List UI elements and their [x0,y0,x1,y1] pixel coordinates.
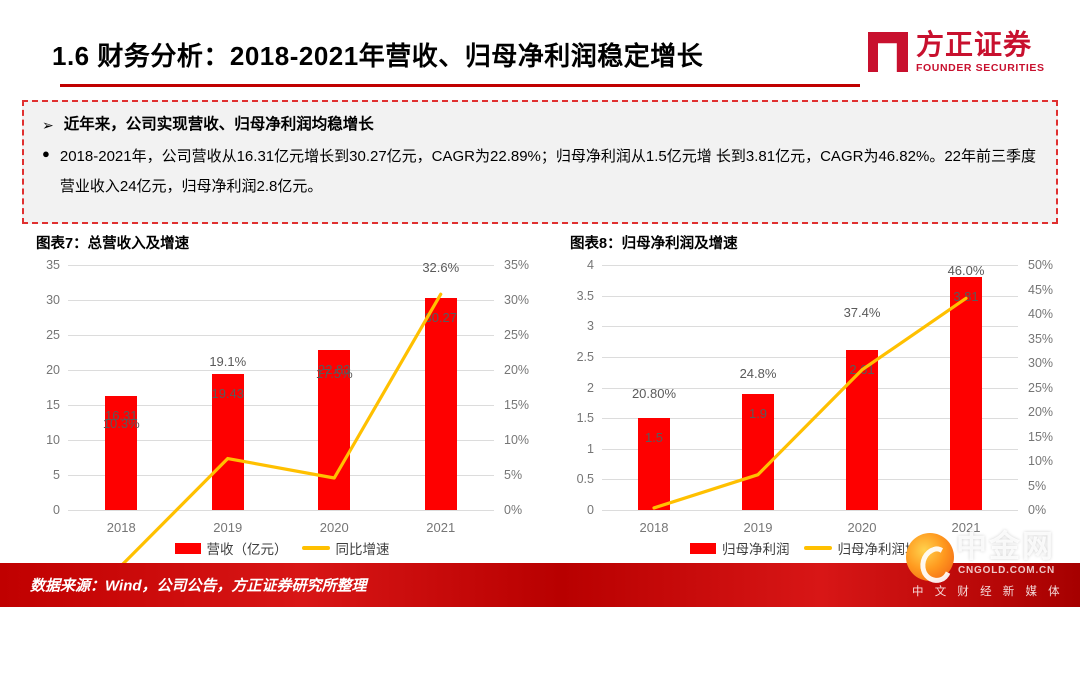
callout-heading-text: 近年来，公司实现营收、归母净利润均稳增长 [64,114,374,136]
y-axis-tick-label: 3 [587,319,594,333]
legend-line-swatch-icon [804,546,832,550]
line-point-label: 32.6% [422,260,459,275]
line-point-label: 24.8% [740,366,777,381]
y-axis-tick-label: 1.5 [577,411,594,425]
callout-body-row: ● 2018-2021年，公司营收从16.31亿元增长到30.27亿元，CAGR… [42,142,1038,202]
plot-area: 00.511.522.533.540%5%10%15%20%25%30%35%4… [602,265,1018,510]
plot-area: 051015202530350%5%10%15%20%25%30%35%16.3… [68,265,494,510]
secondary-y-axis-tick-label: 10% [1028,454,1053,468]
legend-label: 归母净利润增速 [838,538,933,558]
y-axis-tick-label: 15 [46,398,60,412]
y-axis-tick-label: 25 [46,328,60,342]
line-point-label: 17.5% [316,366,353,381]
callout-heading-row: ➢ 近年来，公司实现营收、归母净利润均稳增长 [42,114,1038,136]
legend-item[interactable]: 营收（亿元） [175,538,288,558]
secondary-y-axis-tick-label: 40% [1028,307,1053,321]
secondary-y-axis-tick-label: 5% [1028,479,1046,493]
chart-panel-net-profit: 图表8：归母净利润及增速 00.511.522.533.540%5%10%15%… [556,232,1066,562]
founder-logo-mark-icon [868,32,908,72]
legend-item[interactable]: 归母净利润 [690,538,790,558]
legend-line-swatch-icon [302,546,330,550]
secondary-y-axis-tick-label: 25% [1028,381,1053,395]
callout-body-text: 2018-2021年，公司营收从16.31亿元增长到30.27亿元，CAGR为2… [60,142,1038,202]
line-point-label: 46.0% [948,263,985,278]
chart-title: 图表8：归母净利润及增速 [570,232,1066,253]
legend-label: 营收（亿元） [207,538,288,558]
legend-bar-swatch-icon [690,543,716,554]
secondary-y-axis-tick-label: 10% [504,433,529,447]
secondary-y-axis-tick-label: 0% [1028,503,1046,517]
line-point-label: 19.1% [209,354,246,369]
chart-panel-revenue: 图表7：总营收入及增速 051015202530350%5%10%15%20%2… [22,232,542,562]
founder-securities-logo: 方正证券 FOUNDER SECURITIES [868,24,1058,80]
title-underline-divider [60,84,860,87]
secondary-y-axis-tick-label: 20% [504,363,529,377]
line-point-label: 20.80% [632,386,676,401]
legend-bar-swatch-icon [175,543,201,554]
data-source-text: 数据来源：Wind，公司公告，方正证券研究所整理 [30,575,367,596]
chart-title: 图表7：总营收入及增速 [36,232,542,253]
line-point-label: 37.4% [844,305,881,320]
secondary-y-axis-tick-label: 20% [1028,405,1053,419]
line-point-label: 10.3% [103,416,140,431]
secondary-y-axis-tick-label: 35% [504,258,529,272]
secondary-y-axis-tick-label: 35% [1028,332,1053,346]
secondary-y-axis-tick-label: 15% [1028,430,1053,444]
secondary-y-axis-tick-label: 25% [504,328,529,342]
growth-rate-line [602,265,1018,681]
arrow-bullet-icon: ➢ [42,114,54,136]
brand-name-cn: 方正证券 [916,31,1045,59]
secondary-y-axis-tick-label: 50% [1028,258,1053,272]
y-axis-tick-label: 35 [46,258,60,272]
y-axis-tick-label: 0.5 [577,472,594,486]
y-axis-tick-label: 0 [53,503,60,517]
secondary-y-axis-tick-label: 5% [504,468,522,482]
y-axis-tick-label: 20 [46,363,60,377]
legend-label: 同比增速 [336,538,390,558]
chart-legend: 归母净利润归母净利润增速 [556,538,1066,558]
secondary-y-axis-tick-label: 0% [504,503,522,517]
footer-band: 数据来源：Wind，公司公告，方正证券研究所整理 [0,563,1080,607]
y-axis-tick-label: 1 [587,442,594,456]
y-axis-tick-label: 5 [53,468,60,482]
y-axis-tick-label: 4 [587,258,594,272]
secondary-y-axis-tick-label: 45% [1028,283,1053,297]
secondary-y-axis-tick-label: 30% [504,293,529,307]
legend-label: 归母净利润 [722,538,790,558]
brand-name-en: FOUNDER SECURITIES [916,63,1045,74]
legend-item[interactable]: 归母净利润增速 [804,538,933,558]
growth-rate-line [68,265,494,691]
secondary-y-axis-tick-label: 30% [1028,356,1053,370]
summary-callout-box: ➢ 近年来，公司实现营收、归母净利润均稳增长 ● 2018-2021年，公司营收… [22,100,1058,224]
y-axis-tick-label: 2 [587,381,594,395]
chart-legend: 营收（亿元）同比增速 [22,538,542,558]
y-axis-tick-label: 0 [587,503,594,517]
y-axis-tick-label: 30 [46,293,60,307]
dot-bullet-icon: ● [42,142,50,166]
y-axis-tick-label: 10 [46,433,60,447]
legend-item[interactable]: 同比增速 [302,538,390,558]
secondary-y-axis-tick-label: 15% [504,398,529,412]
callout-body-line-1: 2018-2021年，公司营收从16.31亿元增长到30.27亿元，CAGR为2… [60,148,712,165]
plot-wrapper: 051015202530350%5%10%15%20%25%30%35%16.3… [22,257,542,553]
plot-wrapper: 00.511.522.533.540%5%10%15%20%25%30%35%4… [556,257,1066,553]
slide-header: 1.6 财务分析：2018-2021年营收、归母净利润稳定增长 方正证券 FOU… [0,0,1080,96]
page-title: 1.6 财务分析：2018-2021年营收、归母净利润稳定增长 [52,36,703,73]
y-axis-tick-label: 3.5 [577,289,594,303]
y-axis-tick-label: 2.5 [577,350,594,364]
